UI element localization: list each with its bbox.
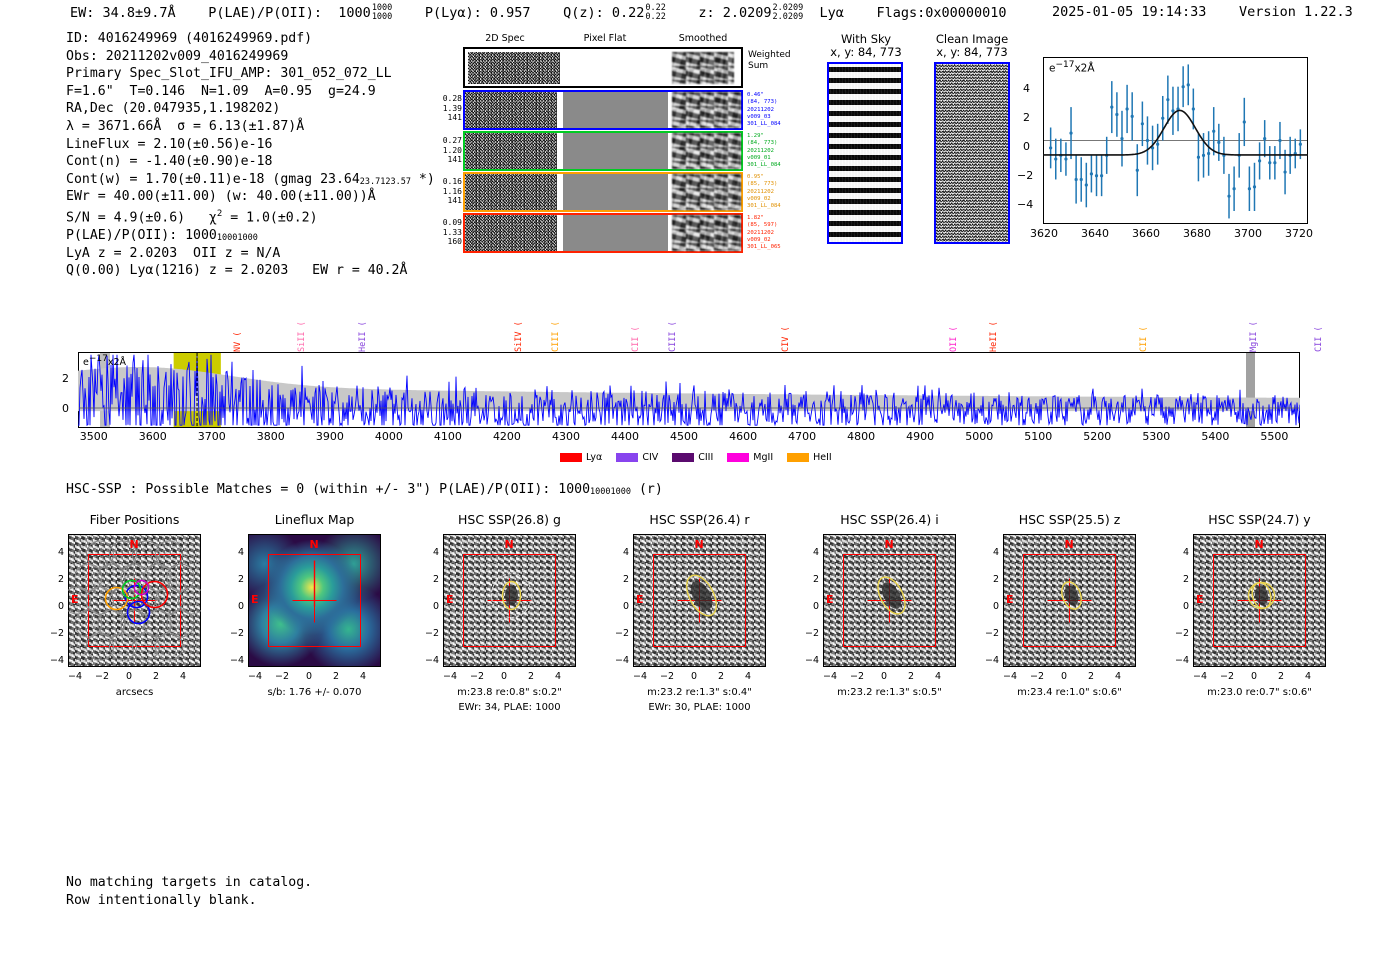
cutout-2-xtick-1: −2 bbox=[468, 671, 486, 682]
cutout-1-xtick-1: −2 bbox=[273, 671, 291, 682]
lf-ytick-0: 0 bbox=[1023, 140, 1030, 153]
cutout-caption-3: m:23.2 re:1.3" s:0.4" bbox=[598, 687, 801, 698]
emission-line-label-siii-1: SiII ( bbox=[297, 321, 307, 352]
cutout-panel-row: Fiber PositionsNE420−2−4−4−2024arcsecsLi… bbox=[0, 512, 1400, 742]
info-redshifts: LyA z = 2.0203 OII z = N/A bbox=[66, 245, 435, 263]
cutout-2-xtick-3: 2 bbox=[522, 671, 540, 682]
cutout-0-xtick-2: 0 bbox=[120, 671, 138, 682]
cutout-0-ytick-1: 2 bbox=[50, 574, 64, 585]
compass-north-5: N bbox=[1065, 538, 1074, 551]
spec2d-column-titles: 2D Spec Pixel Flat Smoothed bbox=[460, 33, 760, 47]
spec-xtick-5300: 5300 bbox=[1142, 430, 1170, 443]
cutout-6-ytick-2: 0 bbox=[1175, 601, 1189, 612]
cutout-5-ytick-1: 2 bbox=[985, 574, 999, 585]
emission-line-label-ciii-4: CIII ( bbox=[551, 321, 561, 352]
compass-east-0: E bbox=[71, 593, 79, 606]
cutout-1-ytick-1: 2 bbox=[230, 574, 244, 585]
cutout-1-xtick-0: −4 bbox=[246, 671, 264, 682]
cutout-5-xtick-0: −4 bbox=[1001, 671, 1019, 682]
cutout-3-xtick-3: 2 bbox=[712, 671, 730, 682]
cutout-6-xtick-3: 2 bbox=[1272, 671, 1290, 682]
cutout-overlay-5 bbox=[1003, 534, 1136, 667]
info-snr: S/N = 4.9(±0.6) χ2 = 1.0(±0.2) bbox=[66, 206, 435, 227]
cutout-1-xtick-3: 2 bbox=[327, 671, 345, 682]
row-1-2dspec-image bbox=[465, 133, 557, 169]
cutout-caption-1: s/b: 1.76 +/- 0.070 bbox=[213, 687, 416, 698]
spec-xtick-4800: 4800 bbox=[847, 430, 875, 443]
cutout-title-1: Lineflux Map bbox=[218, 512, 411, 527]
cutout-4-xtick-4: 4 bbox=[929, 671, 947, 682]
cutout-title-4: HSC SSP(26.4) i bbox=[793, 512, 986, 527]
emission-line-label-oii-8: OII ( bbox=[949, 326, 959, 352]
compass-east-3: E bbox=[636, 593, 644, 606]
legend-label-heii: HeII bbox=[813, 452, 832, 463]
info-plae: P(LAE)/P(OII): 100010001000 bbox=[66, 227, 435, 245]
with-sky-title: With Sky x, y: 84, 773 bbox=[818, 33, 914, 59]
qz-range: 0.220.22 bbox=[645, 4, 665, 21]
lf-xtick-3680: 3680 bbox=[1183, 227, 1211, 240]
cutout-4-xtick-1: −2 bbox=[848, 671, 866, 682]
spec-xtick-4500: 4500 bbox=[670, 430, 698, 443]
emission-line-labels: NV (SiII (HeII (SiIV (CIII (CII (CIII (C… bbox=[78, 318, 1300, 352]
info-id: ID: 4016249969 (4016249969.pdf) bbox=[66, 30, 435, 48]
weighted-sum-label: Weighted Sum bbox=[748, 50, 791, 72]
cutout-4-xtick-0: −4 bbox=[821, 671, 839, 682]
emission-line-label-cii-5: CII ( bbox=[631, 326, 641, 352]
spec-xtick-4600: 4600 bbox=[729, 430, 757, 443]
info-lineflux: LineFlux = 2.10(±0.56)e-16 bbox=[66, 136, 435, 154]
info-ewr: EWr = 40.00(±11.00) (w: 40.00(±11.00))Å bbox=[66, 188, 435, 206]
row-0-2dspec-image bbox=[465, 92, 557, 128]
line-fit-plot-svg bbox=[1043, 57, 1308, 224]
emission-line-label-cii-10: CII ( bbox=[1139, 326, 1149, 352]
spec-xtick-4900: 4900 bbox=[906, 430, 934, 443]
info-lambda: λ = 3671.66Å σ = 6.13(±1.87)Å bbox=[66, 118, 435, 136]
cutout-overlay-0 bbox=[68, 534, 201, 667]
compass-north-3: N bbox=[695, 538, 704, 551]
emission-line-label-mgii-11: MgII ( bbox=[1249, 321, 1259, 352]
cutout-overlay-3 bbox=[633, 534, 766, 667]
cutout-1-ytick-3: −2 bbox=[230, 628, 244, 639]
info-obs: Obs: 20211202v009_4016249969 bbox=[66, 48, 435, 66]
plae-range: 10001000 bbox=[372, 4, 392, 21]
spec-xtick-4200: 4200 bbox=[493, 430, 521, 443]
cutout-overlay-4 bbox=[823, 534, 956, 667]
cutout-5-ytick-2: 0 bbox=[985, 601, 999, 612]
hsc-summary-line: HSC-SSP : Possible Matches = 0 (within +… bbox=[66, 482, 663, 497]
emission-line-label-heii-9: HeII ( bbox=[989, 321, 999, 352]
legend-swatch-civ bbox=[616, 453, 638, 462]
legend-label-lyα: Lyα bbox=[586, 452, 602, 463]
row-2-pixelflat-image bbox=[563, 174, 668, 210]
cutout-6-ytick-3: −2 bbox=[1175, 628, 1189, 639]
cutout-1-xtick-2: 0 bbox=[300, 671, 318, 682]
spec2d-row-1 bbox=[463, 131, 743, 171]
info-cont-n: Cont(n) = -1.40(±0.90)e-18 bbox=[66, 153, 435, 171]
row-0-smoothed-image bbox=[672, 92, 741, 128]
summary-header-line: EW: 34.8±9.7Å P(LAE)/P(OII): 10001000100… bbox=[70, 4, 1007, 21]
cutout-6-ytick-0: 4 bbox=[1175, 547, 1189, 558]
cutout-5-xtick-3: 2 bbox=[1082, 671, 1100, 682]
cutout-3-ytick-2: 0 bbox=[615, 601, 629, 612]
cutout-1-ytick-2: 0 bbox=[230, 601, 244, 612]
footer-line-2: Row intentionally blank. bbox=[66, 892, 312, 910]
cutout-3-xtick-4: 4 bbox=[739, 671, 757, 682]
lf-xtick-3620: 3620 bbox=[1030, 227, 1058, 240]
cutout-1-ytick-0: 4 bbox=[230, 547, 244, 558]
spec2d-row-1-meta: 1.29" (84, 773) 20211202 v009_01 301_LL_… bbox=[747, 133, 781, 169]
spec2d-row-2-left-values: 0.16 1.16 141 bbox=[436, 177, 462, 206]
spec-xtick-3600: 3600 bbox=[139, 430, 167, 443]
row-3-2dspec-image bbox=[465, 215, 557, 251]
cutout-2-xtick-4: 4 bbox=[549, 671, 567, 682]
cutout-2-ytick-4: −4 bbox=[425, 655, 439, 666]
row-3-smoothed-image bbox=[672, 215, 741, 251]
row-3-pixelflat-image bbox=[563, 215, 668, 251]
compass-east-5: E bbox=[1006, 593, 1014, 606]
qz-value: Q(z): 0.22 bbox=[563, 5, 644, 21]
spec-xtick-3800: 3800 bbox=[257, 430, 285, 443]
cutout-2-xtick-0: −4 bbox=[441, 671, 459, 682]
cutout-5-xtick-2: 0 bbox=[1055, 671, 1073, 682]
spectrum-legend: LyαCIVCIIIMgIIHeII bbox=[560, 452, 846, 463]
cutout-caption-0: arcsecs bbox=[33, 687, 236, 698]
compass-north-4: N bbox=[885, 538, 894, 551]
with-sky-image bbox=[827, 62, 903, 244]
cutout-0-xtick-4: 4 bbox=[174, 671, 192, 682]
spec2d-row-0-left-values: 0.28 1.39 141 bbox=[436, 94, 462, 123]
legend-label-civ: CIV bbox=[642, 452, 658, 463]
spec-xtick-3700: 3700 bbox=[198, 430, 226, 443]
cutout-4-xtick-2: 0 bbox=[875, 671, 893, 682]
spec-xtick-5500: 5500 bbox=[1260, 430, 1288, 443]
cutout-2-ytick-1: 2 bbox=[425, 574, 439, 585]
cutout-5-xtick-1: −2 bbox=[1028, 671, 1046, 682]
emission-line-label-ciii-6: CIII ( bbox=[668, 321, 678, 352]
cutout-6-ytick-1: 2 bbox=[1175, 574, 1189, 585]
weighted-sum-smoothed-image bbox=[672, 52, 734, 84]
ew-value: EW: 34.8±9.7Å bbox=[70, 5, 176, 21]
redshift-range: 2.02092.0209 bbox=[773, 4, 804, 21]
row-0-pixelflat-image bbox=[563, 92, 668, 128]
compass-east-1: E bbox=[251, 593, 259, 606]
cutout-title-5: HSC SSP(25.5) z bbox=[973, 512, 1166, 527]
spec-xtick-5400: 5400 bbox=[1201, 430, 1229, 443]
cutout-6-ytick-4: −4 bbox=[1175, 655, 1189, 666]
spec-xtick-4300: 4300 bbox=[552, 430, 580, 443]
emission-line-label-heii-2: HeII ( bbox=[358, 321, 368, 352]
spec-ytick-2: 2 bbox=[62, 372, 69, 385]
col-title-smoothed: Smoothed bbox=[658, 33, 748, 44]
spectrum-unit-label: e−17x2Å bbox=[83, 354, 126, 368]
clean-image bbox=[934, 62, 1010, 244]
cutout-3-xtick-2: 0 bbox=[685, 671, 703, 682]
cutout-caption-4: m:23.2 re:1.3" s:0.5" bbox=[788, 687, 991, 698]
info-radec: RA,Dec (20.047935,1.198202) bbox=[66, 100, 435, 118]
cutout-2-ytick-3: −2 bbox=[425, 628, 439, 639]
spec2d-row-0-meta: 0.46" (84, 773) 20211202 v009_03 301_LL_… bbox=[747, 92, 781, 128]
cutout-caption-2: m:23.8 re:0.8" s:0.2" bbox=[408, 687, 611, 698]
full-spectrum-chart: e−17x2Å 2 0 bbox=[78, 352, 1300, 428]
cutout-caption2-3: EWr: 30, PLAE: 1000 bbox=[598, 702, 801, 713]
legend-swatch-lyα bbox=[560, 453, 582, 462]
cutout-3-ytick-4: −4 bbox=[615, 655, 629, 666]
info-slot: Primary Spec_Slot_IFU_AMP: 301_052_072_L… bbox=[66, 65, 435, 83]
legend-label-ciii: CIII bbox=[698, 452, 713, 463]
cutout-overlay-2 bbox=[443, 534, 576, 667]
cutout-4-xtick-3: 2 bbox=[902, 671, 920, 682]
compass-north-0: N bbox=[130, 538, 139, 551]
timestamp: 2025-01-05 19:14:33 bbox=[1052, 4, 1206, 20]
cutout-6-xtick-1: −2 bbox=[1218, 671, 1236, 682]
weighted-sum-panel bbox=[463, 47, 743, 88]
spectrum-plot-svg bbox=[78, 352, 1300, 428]
legend-swatch-mgii bbox=[727, 453, 749, 462]
lf-xtick-3660: 3660 bbox=[1132, 227, 1160, 240]
compass-east-6: E bbox=[1196, 593, 1204, 606]
legend-swatch-ciii bbox=[672, 453, 694, 462]
cutout-2-ytick-0: 4 bbox=[425, 547, 439, 558]
weighted-sum-2dspec-image bbox=[468, 52, 560, 84]
info-qline: Q(0.00) Lyα(1216) z = 2.0203 EW r = 40.2… bbox=[66, 262, 435, 280]
version-label: Version 1.22.3 bbox=[1239, 4, 1353, 20]
header-timestamp-block: 2025-01-05 19:14:33 Version 1.22.3 bbox=[1052, 4, 1353, 20]
spec2d-row-2-meta: 0.95" (85, 773) 20211202 v009_02 301_LL_… bbox=[747, 174, 781, 210]
cutout-3-xtick-1: −2 bbox=[658, 671, 676, 682]
cutout-4-ytick-3: −2 bbox=[805, 628, 819, 639]
compass-east-2: E bbox=[446, 593, 454, 606]
row-2-2dspec-image bbox=[465, 174, 557, 210]
spectrum-xtick-labels: 3500360037003800390040004100420043004400… bbox=[78, 430, 1300, 446]
cutout-caption2-2: EWr: 34, PLAE: 1000 bbox=[408, 702, 611, 713]
spec-xtick-5100: 5100 bbox=[1024, 430, 1052, 443]
redshift-value: z: 2.0209 bbox=[698, 5, 771, 21]
spec-xtick-4100: 4100 bbox=[434, 430, 462, 443]
cutout-title-0: Fiber Positions bbox=[38, 512, 231, 527]
spec2d-row-3-meta: 1.82" (85, 597) 20211202 v009_02 301_LL_… bbox=[747, 215, 781, 251]
lf-xtick-3640: 3640 bbox=[1081, 227, 1109, 240]
cutout-0-xtick-0: −4 bbox=[66, 671, 84, 682]
spec2d-row-2 bbox=[463, 172, 743, 212]
row-2-smoothed-image bbox=[672, 174, 741, 210]
spec2d-row-3-left-values: 0.09 1.33 160 bbox=[436, 218, 462, 247]
cutout-0-ytick-0: 4 bbox=[50, 547, 64, 558]
cutout-5-ytick-0: 4 bbox=[985, 547, 999, 558]
plya-value: P(Lyα): 0.957 bbox=[425, 5, 531, 21]
cutout-2-xtick-2: 0 bbox=[495, 671, 513, 682]
footer-note: No matching targets in catalog. Row inte… bbox=[66, 874, 312, 909]
cutout-title-2: HSC SSP(26.8) g bbox=[413, 512, 606, 527]
cutout-overlay-1 bbox=[248, 534, 381, 667]
compass-north-6: N bbox=[1255, 538, 1264, 551]
lf-ytick-2: 2 bbox=[1023, 111, 1030, 124]
spec2d-row-3 bbox=[463, 213, 743, 253]
cutout-0-ytick-3: −2 bbox=[50, 628, 64, 639]
spec-xtick-5200: 5200 bbox=[1083, 430, 1111, 443]
cutout-6-xtick-4: 4 bbox=[1299, 671, 1317, 682]
spec2d-row-1-left-values: 0.27 1.20 141 bbox=[436, 136, 462, 165]
spec-xtick-4400: 4400 bbox=[611, 430, 639, 443]
cutout-overlay-6 bbox=[1193, 534, 1326, 667]
lf-ytick-m2: −2 bbox=[1017, 169, 1033, 182]
cutout-5-xtick-4: 4 bbox=[1109, 671, 1127, 682]
cutout-5-ytick-3: −2 bbox=[985, 628, 999, 639]
detection-info-block: ID: 4016249969 (4016249969.pdf) Obs: 202… bbox=[66, 30, 435, 280]
footer-line-1: No matching targets in catalog. bbox=[66, 874, 312, 892]
cutout-caption-5: m:23.4 re:1.0" s:0.6" bbox=[968, 687, 1171, 698]
plae-label: P(LAE)/P(OII): bbox=[208, 5, 322, 21]
cutout-3-xtick-0: −4 bbox=[631, 671, 649, 682]
row-1-smoothed-image bbox=[672, 133, 741, 169]
line-fit-chart: e−17x2Å 4 2 0 −2 −4 3620 3640 3660 3680 … bbox=[1043, 57, 1308, 224]
spec-xtick-4700: 4700 bbox=[788, 430, 816, 443]
cutout-3-ytick-1: 2 bbox=[615, 574, 629, 585]
cutout-1-ytick-4: −4 bbox=[230, 655, 244, 666]
compass-east-4: E bbox=[826, 593, 834, 606]
cutout-5-ytick-4: −4 bbox=[985, 655, 999, 666]
flags-value: Flags:0x00000010 bbox=[876, 5, 1006, 21]
emission-line-label-cii-12: CII ( bbox=[1314, 326, 1324, 352]
cutout-4-ytick-4: −4 bbox=[805, 655, 819, 666]
cutout-0-ytick-2: 0 bbox=[50, 601, 64, 612]
cutout-4-ytick-0: 4 bbox=[805, 547, 819, 558]
cutout-title-3: HSC SSP(26.4) r bbox=[603, 512, 796, 527]
plae-value: 1000 bbox=[338, 5, 371, 21]
cutout-0-xtick-3: 2 bbox=[147, 671, 165, 682]
cutout-2-ytick-2: 0 bbox=[425, 601, 439, 612]
compass-north-1: N bbox=[310, 538, 319, 551]
cutout-3-ytick-0: 4 bbox=[615, 547, 629, 558]
emission-line-label-civ-7: CIV ( bbox=[781, 326, 791, 352]
spec-xtick-3900: 3900 bbox=[316, 430, 344, 443]
spec-xtick-5000: 5000 bbox=[965, 430, 993, 443]
info-seeing: F=1.6" T=0.146 N=1.09 A=0.95 g=24.9 bbox=[66, 83, 435, 101]
lya-tag: Lyα bbox=[820, 5, 844, 21]
cutout-6-xtick-2: 0 bbox=[1245, 671, 1263, 682]
spec-xtick-4000: 4000 bbox=[375, 430, 403, 443]
cutout-4-ytick-1: 2 bbox=[805, 574, 819, 585]
emission-line-label-siiv-3: SiIV ( bbox=[514, 321, 524, 352]
cutout-4-ytick-2: 0 bbox=[805, 601, 819, 612]
cutout-6-xtick-0: −4 bbox=[1191, 671, 1209, 682]
cutout-0-ytick-4: −4 bbox=[50, 655, 64, 666]
lf-ytick-4: 4 bbox=[1023, 82, 1030, 95]
spec2d-row-0 bbox=[463, 90, 743, 130]
compass-north-2: N bbox=[505, 538, 514, 551]
lf-ytick-m4: −4 bbox=[1017, 198, 1033, 211]
emission-line-label-nv-0: NV ( bbox=[233, 332, 243, 352]
cutout-1-xtick-4: 4 bbox=[354, 671, 372, 682]
cutout-caption-6: m:23.0 re:0.7" s:0.6" bbox=[1158, 687, 1361, 698]
col-title-pixelflat: Pixel Flat bbox=[560, 33, 650, 44]
row-1-pixelflat-image bbox=[563, 133, 668, 169]
spec-xtick-3500: 3500 bbox=[80, 430, 108, 443]
col-title-2dspec: 2D Spec bbox=[460, 33, 550, 44]
legend-label-mgii: MgII bbox=[753, 452, 773, 463]
lf-xtick-3700: 3700 bbox=[1234, 227, 1262, 240]
cutout-0-xtick-1: −2 bbox=[93, 671, 111, 682]
lf-xtick-3720: 3720 bbox=[1285, 227, 1313, 240]
weighted-sum-pixelflat-image bbox=[565, 52, 670, 84]
info-cont-w: Cont(w) = 1.70(±0.11)e-18 (gmag 23.6423.… bbox=[66, 171, 435, 189]
cutout-3-ytick-3: −2 bbox=[615, 628, 629, 639]
clean-image-title: Clean Image x, y: 84, 773 bbox=[922, 33, 1022, 59]
spec-ytick-0: 0 bbox=[62, 402, 69, 415]
legend-swatch-heii bbox=[787, 453, 809, 462]
cutout-title-6: HSC SSP(24.7) y bbox=[1163, 512, 1356, 527]
